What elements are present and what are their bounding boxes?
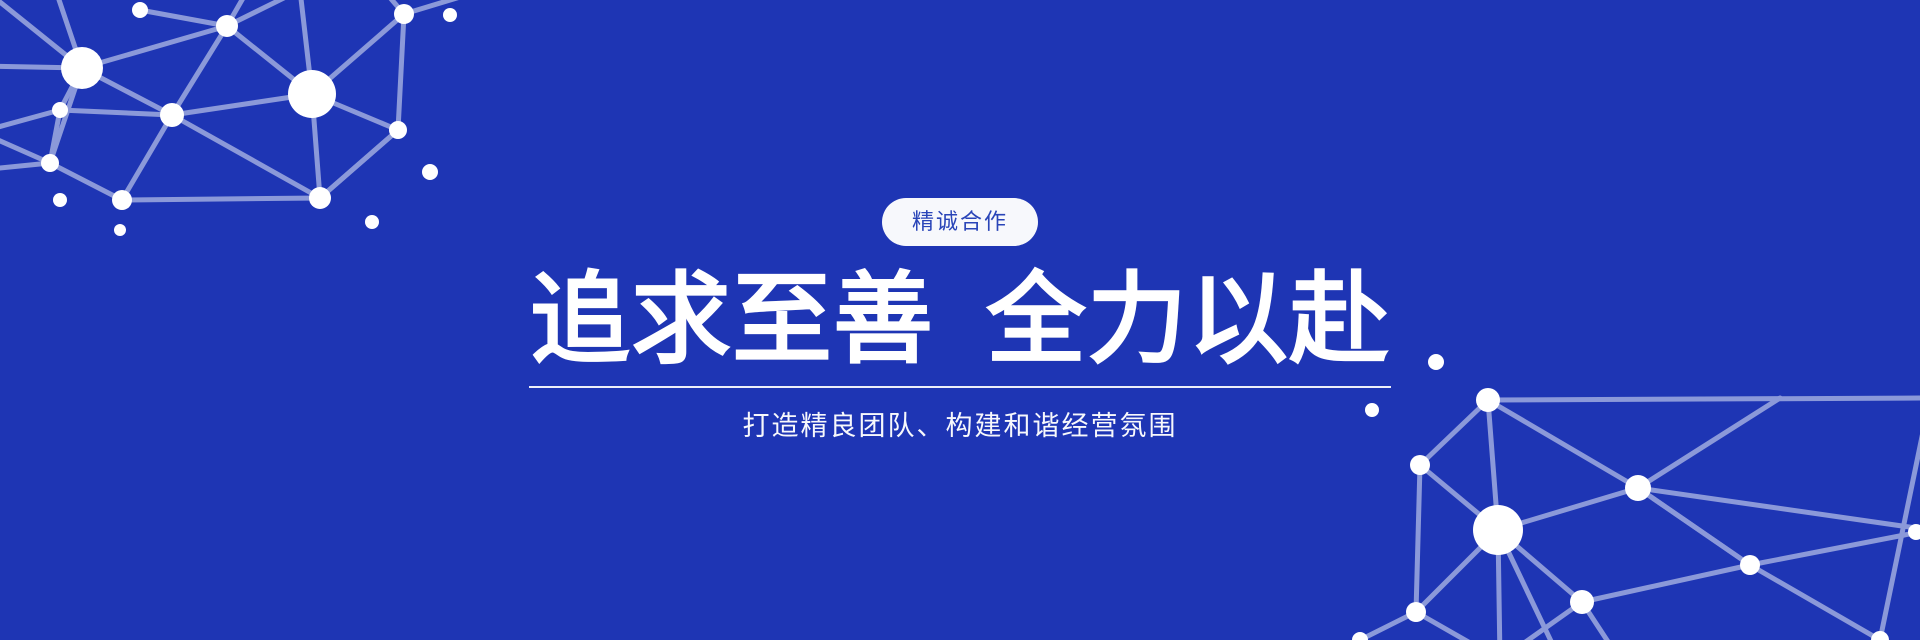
page-title: 追求至善 全力以赴 — [530, 266, 1390, 374]
title-divider — [529, 386, 1391, 388]
tagline-badge: 精诚合作 — [882, 198, 1038, 246]
banner-content: 精诚合作 追求至善 全力以赴 打造精良团队、构建和谐经营氛围 — [0, 0, 1920, 640]
page-subtitle: 打造精良团队、构建和谐经营氛围 — [743, 410, 1178, 442]
headline-part-1: 追求至善 — [530, 266, 934, 374]
headline-part-2: 全力以赴 — [986, 266, 1390, 374]
hero-banner: 精诚合作 追求至善 全力以赴 打造精良团队、构建和谐经营氛围 — [0, 0, 1920, 640]
